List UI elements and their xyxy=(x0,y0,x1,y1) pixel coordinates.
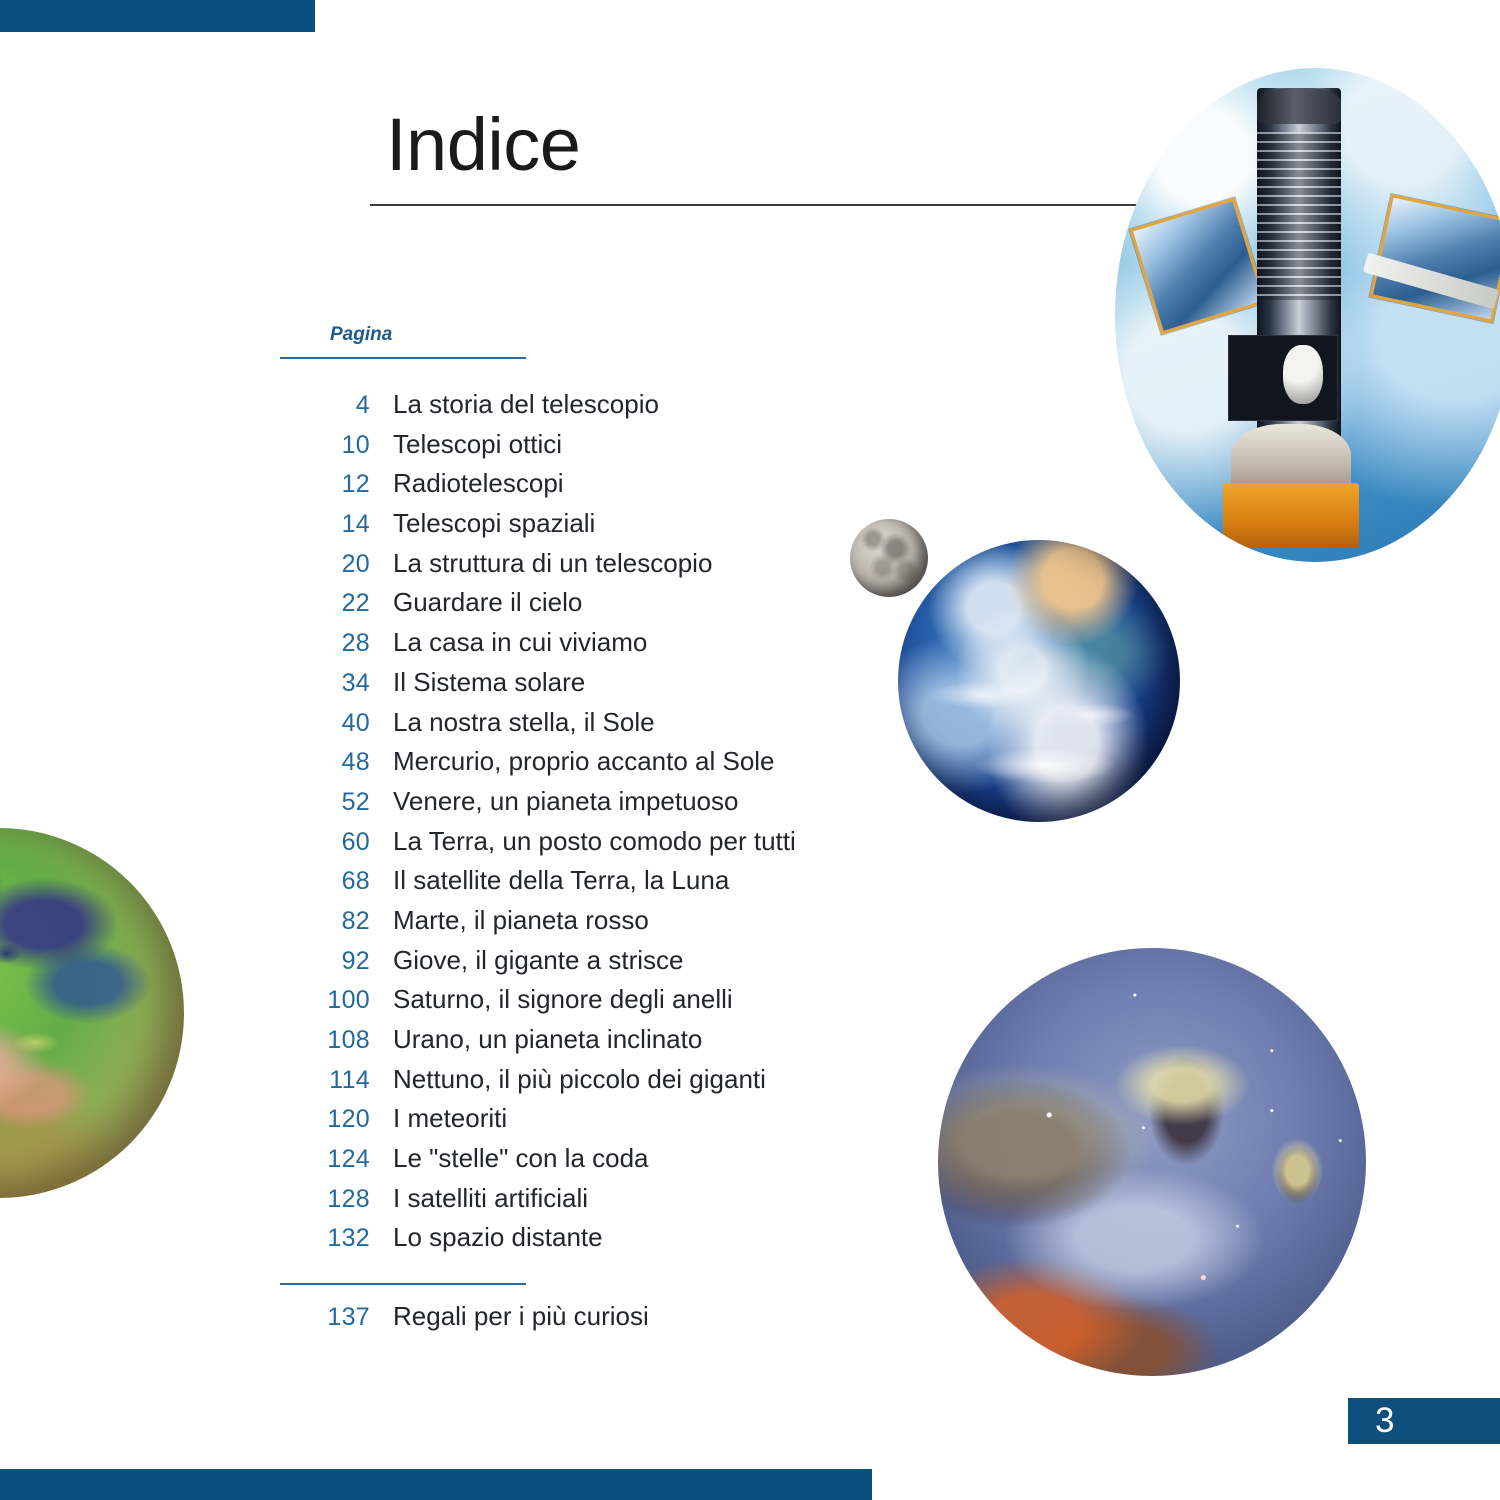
toc-entry-label: Saturno, il signore degli anelli xyxy=(370,984,733,1015)
toc-entry[interactable]: 20La struttura di un telescopio xyxy=(280,548,840,588)
toc-entry[interactable]: 128I satelliti artificiali xyxy=(280,1183,840,1223)
toc-entry[interactable]: 28La casa in cui viviamo xyxy=(280,627,840,667)
bottom-left-accent-bar xyxy=(0,1469,872,1500)
toc-entry-label: Il satellite della Terra, la Luna xyxy=(370,865,729,896)
toc-entry-page: 128 xyxy=(280,1185,370,1214)
toc-entry-page: 108 xyxy=(280,1026,370,1055)
toc-entry[interactable]: 10Telescopi ottici xyxy=(280,429,840,469)
toc-entry[interactable]: 52Venere, un pianeta impetuoso xyxy=(280,786,840,826)
toc-entry-page: 14 xyxy=(280,510,370,539)
toc-entry[interactable]: 82Marte, il pianeta rosso xyxy=(280,905,840,945)
telescope-rings xyxy=(1257,132,1341,300)
nebula-stars xyxy=(938,948,1366,1376)
toc-entry-page: 40 xyxy=(280,709,370,738)
appendix-divider-rule xyxy=(280,1283,526,1285)
toc-entry[interactable]: 124Le "stelle" con la coda xyxy=(280,1143,840,1183)
toc-entry-label: Lo spazio distante xyxy=(370,1222,603,1253)
book-index-page: Indice Pagina 4La storia del telescopio1… xyxy=(0,0,1500,1500)
toc-entry-page: 4 xyxy=(280,391,370,420)
earth-photo xyxy=(898,540,1180,822)
title-underline-rule xyxy=(370,204,1182,206)
toc-entry-label: I meteoriti xyxy=(370,1103,507,1134)
solar-panel-left xyxy=(1129,198,1266,335)
table-of-contents: 4La storia del telescopio10Telescopi ott… xyxy=(280,389,840,1262)
toc-entry-label: I satelliti artificiali xyxy=(370,1183,588,1214)
toc-entry[interactable]: 34Il Sistema solare xyxy=(280,667,840,707)
toc-entry-label: Mercurio, proprio accanto al Sole xyxy=(370,746,775,777)
venus-surface-texture xyxy=(0,828,184,1198)
toc-entry-label: Marte, il pianeta rosso xyxy=(370,905,649,936)
earth-cloud-swirls xyxy=(898,540,1180,822)
toc-entry[interactable]: 48Mercurio, proprio accanto al Sole xyxy=(280,746,840,786)
toc-entry[interactable]: 132Lo spazio distante xyxy=(280,1222,840,1262)
toc-entry-label: Regali per i più curiosi xyxy=(370,1301,649,1332)
toc-entry[interactable]: 14Telescopi spaziali xyxy=(280,508,840,548)
toc-entry[interactable]: 100Saturno, il signore degli anelli xyxy=(280,984,840,1024)
top-left-accent-bar xyxy=(0,0,315,32)
toc-entry[interactable]: 68Il satellite della Terra, la Luna xyxy=(280,865,840,905)
toc-entry[interactable]: 120I meteoriti xyxy=(280,1103,840,1143)
toc-entry-label: Nettuno, il più piccolo dei giganti xyxy=(370,1064,766,1095)
toc-entry-page: 82 xyxy=(280,907,370,936)
toc-entry-page: 22 xyxy=(280,589,370,618)
astronaut xyxy=(1283,345,1323,404)
toc-entry-page: 114 xyxy=(280,1066,370,1095)
toc-entry-page: 132 xyxy=(280,1224,370,1253)
toc-entry[interactable]: 108Urano, un pianeta inclinato xyxy=(280,1024,840,1064)
toc-entry[interactable]: 137Regali per i più curiosi xyxy=(280,1301,840,1341)
toc-entry[interactable]: 40La nostra stella, il Sole xyxy=(280,707,840,747)
toc-entry-page: 68 xyxy=(280,867,370,896)
toc-entry-page: 20 xyxy=(280,550,370,579)
toc-entry-page: 120 xyxy=(280,1105,370,1134)
toc-entry-label: La struttura di un telescopio xyxy=(370,548,712,579)
page-number-badge: 3 xyxy=(1348,1398,1500,1444)
toc-entry-label: La nostra stella, il Sole xyxy=(370,707,655,738)
toc-entry-page: 100 xyxy=(280,986,370,1015)
orange-thermal-blanket xyxy=(1223,483,1359,547)
toc-entry[interactable]: 12Radiotelescopi xyxy=(280,468,840,508)
toc-entry-label: La Terra, un posto comodo per tutti xyxy=(370,826,796,857)
toc-entry-label: La casa in cui viviamo xyxy=(370,627,647,658)
toc-entry-page: 28 xyxy=(280,629,370,658)
toc-entry-label: Le "stelle" con la coda xyxy=(370,1143,649,1174)
toc-entry-page: 10 xyxy=(280,431,370,460)
toc-entry[interactable]: 4La storia del telescopio xyxy=(280,389,840,429)
toc-entry[interactable]: 22Guardare il cielo xyxy=(280,587,840,627)
toc-entry[interactable]: 114Nettuno, il più piccolo dei giganti xyxy=(280,1064,840,1104)
toc-entry-page: 34 xyxy=(280,669,370,698)
venus-radar-map-photo xyxy=(0,828,184,1198)
toc-entry[interactable]: 60La Terra, un posto comodo per tutti xyxy=(280,826,840,866)
toc-entry-label: Radiotelescopi xyxy=(370,468,564,499)
toc-entry-page: 48 xyxy=(280,748,370,777)
toc-entry-label: Urano, un pianeta inclinato xyxy=(370,1024,702,1055)
toc-entry-label: La storia del telescopio xyxy=(370,389,659,420)
page-title: Indice xyxy=(386,108,580,182)
toc-entry-page: 52 xyxy=(280,788,370,817)
hubble-space-telescope-photo xyxy=(1115,68,1500,562)
toc-entry-page: 92 xyxy=(280,947,370,976)
toc-entry-page: 12 xyxy=(280,470,370,499)
page-column-header: Pagina xyxy=(330,324,392,346)
toc-entry-page: 137 xyxy=(280,1303,370,1332)
toc-entry-page: 124 xyxy=(280,1145,370,1174)
page-number-value: 3 xyxy=(1375,1401,1395,1441)
toc-entry-page: 60 xyxy=(280,828,370,857)
toc-entry-label: Telescopi spaziali xyxy=(370,508,595,539)
toc-entry-label: Venere, un pianeta impetuoso xyxy=(370,786,738,817)
nebula-photo xyxy=(938,948,1366,1376)
toc-entry-label: Il Sistema solare xyxy=(370,667,585,698)
page-column-header-rule xyxy=(280,357,526,359)
toc-entry[interactable]: 92Giove, il gigante a strisce xyxy=(280,945,840,985)
toc-entry-label: Guardare il cielo xyxy=(370,587,582,618)
toc-entry-label: Giove, il gigante a strisce xyxy=(370,945,683,976)
toc-entry-label: Telescopi ottici xyxy=(370,429,562,460)
moon-photo xyxy=(850,519,928,597)
table-of-contents-appendix: 137Regali per i più curiosi xyxy=(280,1301,840,1341)
